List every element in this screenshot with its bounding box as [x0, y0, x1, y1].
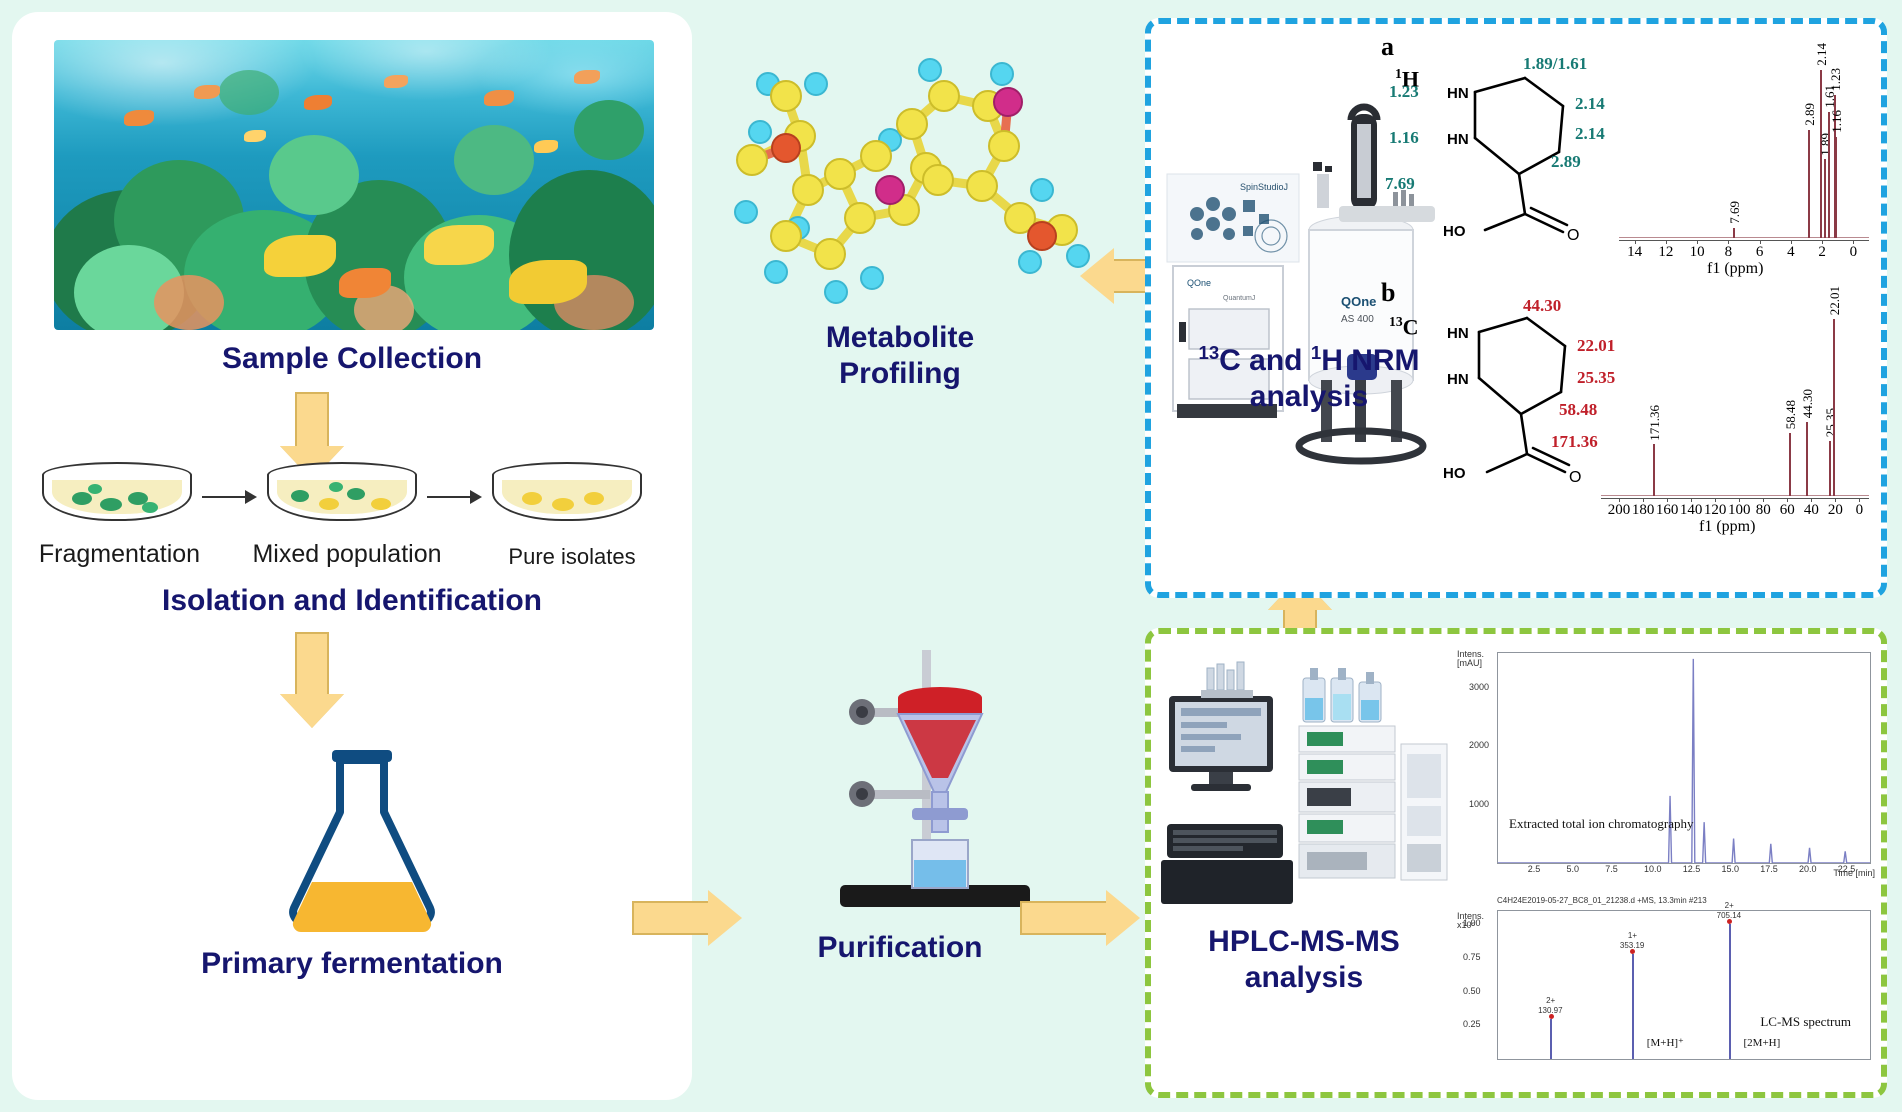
svg-text:SpinStudioJ: SpinStudioJ: [1240, 182, 1288, 192]
arrow-fragmentation-to-mixed: [202, 490, 257, 504]
svg-text:QuantumJ: QuantumJ: [1223, 295, 1255, 302]
chromatogram-ytick-label: 3000: [1469, 682, 1489, 692]
ms-adduct-label: [2M+H]: [1744, 1037, 1781, 1049]
spectrum-peak: [1806, 422, 1808, 496]
petri-dish-mixed-population: [267, 462, 417, 526]
coral-cluster: [219, 70, 279, 115]
ms-spectrum-note: LC-MS spectrum: [1760, 1014, 1851, 1030]
caption-mixed-population: Mixed population: [227, 540, 467, 569]
svg-text:QOne: QOne: [1187, 278, 1211, 288]
fish: [264, 235, 336, 277]
spectrum-peak-label: 22.01: [1827, 286, 1843, 315]
ms-spectrum-container: Intens. x10⁵ C4H24E2019-05-27_BC8_01_212…: [1457, 896, 1877, 1086]
axis-tick-label: 0: [1856, 502, 1864, 519]
svg-text:QOne: QOne: [1341, 294, 1376, 309]
ms-ytick-label: 0.50: [1463, 986, 1481, 996]
axis-tick-label: 200: [1608, 502, 1631, 519]
workflow-diagram: Sample Collection: [0, 0, 1902, 1112]
fish: [194, 85, 220, 99]
proton-structure-diagram: HN HN HO O: [1439, 64, 1649, 244]
hplc-title-line2: analysis: [1245, 961, 1363, 994]
spectrum-peak: [1824, 159, 1826, 238]
spectrum-peak-label: 1.16: [1829, 110, 1845, 133]
svg-text:HN: HN: [1447, 85, 1469, 102]
erlenmeyer-flask-icon: [262, 742, 462, 942]
clamp-lower: [849, 781, 930, 807]
metabolite-label-line1: Metabolite: [826, 321, 974, 354]
axis-tick-label: 10: [1690, 244, 1705, 261]
fish: [304, 95, 332, 110]
isolation-identification-title: Isolation and Identification: [12, 584, 692, 618]
spectrum-peak-label: 1.23: [1828, 68, 1844, 91]
arrow-purification-to-hplc: [1020, 890, 1140, 946]
axis-tick-label: 0: [1850, 244, 1858, 261]
left-workflow-panel: Sample Collection: [12, 12, 692, 1100]
axis-tick-label: 14: [1627, 244, 1642, 261]
proton-sup: 1: [1395, 66, 1402, 81]
coral-cluster: [574, 100, 644, 160]
primary-fermentation-title: Primary fermentation: [12, 947, 692, 981]
metabolite-label-line2: Profiling: [839, 357, 961, 390]
fish: [534, 140, 558, 153]
caption-pure-isolates: Pure isolates: [462, 544, 682, 570]
shift-ho: 7.69: [1385, 174, 1415, 194]
spectrum-peak: [1808, 130, 1810, 238]
spectrum-peak-label: 1.89: [1818, 133, 1834, 156]
nmr-title-mid: C and: [1219, 344, 1311, 377]
axis-line: [1619, 240, 1869, 241]
time-axis-label: Time [min]: [1833, 868, 1875, 878]
metabolite-profiling-title: Metabolite Profiling: [690, 320, 1110, 392]
axis-tick-label: 160: [1656, 502, 1679, 519]
spectrum-peak-label: 2.14: [1814, 43, 1830, 66]
axis-tick-label: 12: [1658, 244, 1673, 261]
axis-tick-label: 60: [1780, 502, 1795, 519]
svg-text:HO: HO: [1443, 223, 1466, 240]
shift-ch: 2.89: [1551, 152, 1581, 172]
intens-unit-1: [mAU]: [1457, 658, 1482, 668]
axis-tick-label: 4: [1787, 244, 1795, 261]
chromatogram-note: Extracted total ion chromatography: [1509, 816, 1693, 832]
ms-mass-label: 705.14: [1717, 911, 1741, 920]
axis-tick-label: 6: [1756, 244, 1764, 261]
svg-text:O: O: [1569, 469, 1581, 486]
axis-tick-label: 140: [1680, 502, 1703, 519]
hplc-ms-panel: HPLC-MS-MS analysis Intens. [mAU] 100020…: [1145, 628, 1887, 1098]
ms-ytick-label: 0.25: [1463, 1019, 1481, 1029]
nmr-title-line2: analysis: [1250, 380, 1368, 413]
coral-soft: [154, 275, 224, 330]
fish: [574, 70, 600, 84]
spectrum-peak-label: 58.48: [1783, 400, 1799, 429]
chromatogram-xtick-label: 5.0: [1567, 864, 1580, 874]
spectrum-peak-label: 44.30: [1800, 389, 1816, 418]
collection-beaker: [912, 840, 968, 888]
colony: [291, 490, 309, 502]
nmr-analysis-title: 13C and 1H NRM analysis: [1159, 342, 1459, 415]
carbon-axis-title: f1 (ppm): [1699, 518, 1755, 536]
ms-mass-label: 353.19: [1620, 941, 1644, 950]
axis-tick-label: 120: [1704, 502, 1727, 519]
hplc-ms-title: HPLC-MS-MS analysis: [1159, 924, 1449, 996]
ms-peak: [1550, 1019, 1552, 1059]
chromatogram-xtick-label: 7.5: [1605, 864, 1618, 874]
axis-tick-label: 8: [1725, 244, 1733, 261]
svg-text:HN: HN: [1447, 325, 1469, 342]
ms-header-text: C4H24E2019-05-27_BC8_01_21238.d +MS, 13.…: [1497, 896, 1707, 905]
ms-peak: [1632, 954, 1634, 1059]
colony: [100, 498, 122, 511]
petri-dish-fragmentation: [42, 462, 192, 526]
spectrum-peak: [1829, 441, 1831, 496]
arrow-to-fermentation: [252, 632, 372, 730]
svg-text:HO: HO: [1443, 465, 1466, 482]
ms-charge-label: 1+: [1628, 931, 1637, 940]
carbon-symbol: C: [1403, 314, 1419, 339]
proton-nmr-spectrum-plot: 7.692.892.141.891.611.231.16: [1619, 48, 1869, 238]
axis-tick-label: 80: [1756, 502, 1771, 519]
proton-axis-title: f1 (ppm): [1707, 260, 1763, 278]
colony: [88, 484, 102, 494]
chromatogram-y-label: Intens. [mAU]: [1457, 650, 1484, 669]
svg-text:HN: HN: [1447, 131, 1469, 148]
nmr-title-sup-13: 13: [1198, 342, 1219, 363]
ms-charge-label: 2+: [1725, 901, 1734, 910]
ms-charge-label: 2+: [1546, 996, 1555, 1005]
coral-reef-photo: [54, 40, 654, 330]
fish: [484, 90, 514, 106]
arrow-mixed-to-pure: [427, 490, 482, 504]
shift-ch2-right-lower: 2.14: [1575, 124, 1605, 144]
clownfish: [339, 268, 391, 298]
shift-hn-bottom: 1.16: [1389, 128, 1419, 148]
sample-collection-title: Sample Collection: [12, 342, 692, 376]
chromatogram-xtick-label: 20.0: [1799, 864, 1817, 874]
carbon-sup: 13: [1389, 314, 1403, 329]
spectrum-peak-label: 171.36: [1647, 405, 1663, 441]
axis-tick-label: 20: [1828, 502, 1843, 519]
spectrum-peak: [1835, 137, 1837, 238]
nmr-title-sup-1: 1: [1311, 342, 1321, 363]
axis-tick-label: 100: [1728, 502, 1751, 519]
chromatogram-xtick-label: 17.5: [1760, 864, 1778, 874]
spectrum-peak: [1653, 444, 1655, 496]
separatory-funnel-apparatus: [800, 650, 1070, 920]
hplc-ms-instrument-illustration: [1161, 654, 1451, 914]
chromatogram-ytick-label: 1000: [1469, 799, 1489, 809]
axis-line: [1601, 498, 1869, 499]
shift-ch2-top: 1.89/1.61: [1523, 54, 1587, 74]
carbon-shift-cooh: 171.36: [1551, 432, 1598, 452]
chromatogram-xtick-label: 15.0: [1722, 864, 1740, 874]
spectrum-peak: [1833, 319, 1835, 496]
chromatogram-container: Intens. [mAU] 100020003000 2.55.07.510.0…: [1457, 648, 1877, 893]
svg-text:HN: HN: [1447, 371, 1469, 388]
shift-hn-top: 1.23: [1389, 82, 1419, 102]
colony: [347, 488, 365, 500]
ms-adduct-label: [M+H]⁺: [1647, 1036, 1684, 1049]
axis-tick-label: 180: [1632, 502, 1655, 519]
ms-ytick-label: 0.75: [1463, 952, 1481, 962]
carbon-nmr-spectrum-plot: 171.3658.4844.3025.3522.01: [1601, 296, 1869, 496]
colony: [72, 492, 92, 505]
carbon-shift-ch2-top: 44.30: [1523, 296, 1561, 316]
caption-fragmentation: Fragmentation: [12, 540, 227, 569]
colony: [329, 482, 343, 492]
ms-mass-label: 130.97: [1538, 1006, 1562, 1015]
hplc-title-line1: HPLC-MS-MS: [1208, 925, 1400, 958]
petri-dish-pure-isolates: [492, 462, 642, 526]
coral-cluster: [269, 135, 359, 215]
separatory-funnel: [898, 687, 982, 832]
fish: [509, 260, 587, 304]
colony: [552, 498, 574, 511]
carbon-nucleus-label: 13C: [1389, 314, 1419, 340]
svg-text:AS 400: AS 400: [1341, 314, 1374, 325]
colony: [142, 502, 158, 513]
axis-tick-label: 2: [1818, 244, 1826, 261]
spectrum-peak-label: 2.89: [1802, 103, 1818, 126]
fish: [424, 225, 494, 265]
coral-cluster: [454, 125, 534, 195]
chromatogram-ytick-label: 2000: [1469, 740, 1489, 750]
ms-peak: [1729, 924, 1731, 1059]
panel-a-letter: a: [1381, 32, 1394, 62]
ms-plot: 2+130.971+353.192+705.14[M+H]⁺[2M+H]: [1497, 910, 1871, 1060]
colony: [371, 498, 391, 510]
svg-text:O: O: [1567, 227, 1579, 244]
panel-b-letter: b: [1381, 278, 1395, 308]
colony: [522, 492, 542, 505]
chromatogram-xtick-label: 12.5: [1683, 864, 1701, 874]
ms-ytick-label: 1.00: [1463, 918, 1481, 928]
spectrum-peak: [1789, 433, 1791, 496]
fish: [384, 75, 408, 88]
nmr-title-post: H NRM: [1321, 344, 1419, 377]
metabolite-molecule-model: [690, 40, 1110, 320]
chromatogram-xtick-label: 10.0: [1644, 864, 1662, 874]
spectrum-peak-label: 25.35: [1823, 408, 1839, 437]
axis-tick-label: 40: [1804, 502, 1819, 519]
spectrum-peak-label: 7.69: [1727, 201, 1743, 224]
nmr-analysis-panel: SpinStudioJ QOne QuantumJ QOn: [1145, 18, 1887, 598]
fish: [244, 130, 266, 142]
fish: [124, 110, 154, 126]
colony: [319, 498, 339, 510]
chromatogram-plot: [1497, 652, 1871, 864]
chromatogram-xtick-label: 2.5: [1528, 864, 1541, 874]
shift-ch2-right-upper: 2.14: [1575, 94, 1605, 114]
carbon-shift-ch: 58.48: [1559, 400, 1597, 420]
colony: [584, 492, 604, 505]
